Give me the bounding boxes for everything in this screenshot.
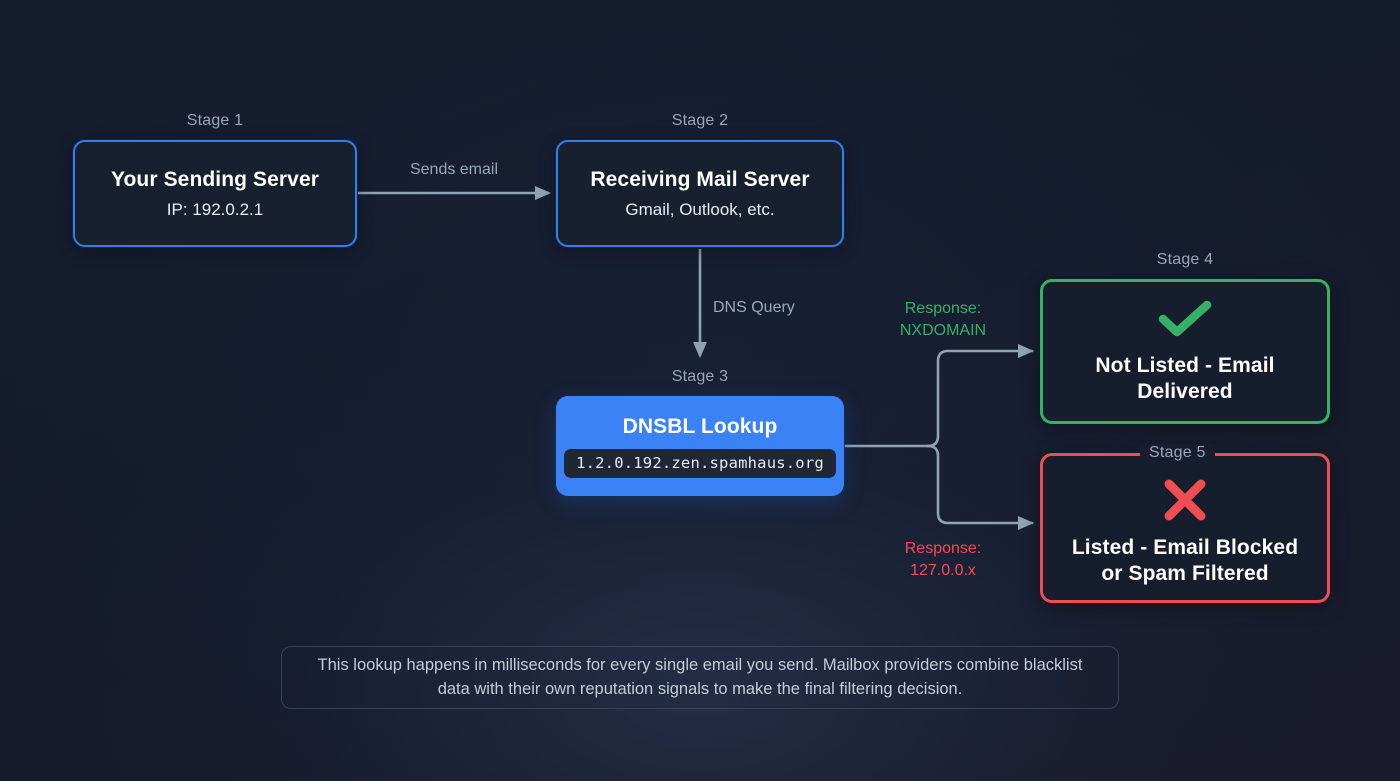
not-listed-title-line1: Not Listed - Email <box>1095 353 1274 379</box>
arrow-dnsbl-to-not-listed <box>928 351 1032 446</box>
response-bad-line2: 127.0.0.x <box>874 560 1012 582</box>
footer-note: This lookup happens in milliseconds for … <box>281 646 1119 709</box>
stage-4-caption: Stage 4 <box>1040 251 1330 269</box>
footer-note-text: This lookup happens in milliseconds for … <box>300 654 1100 701</box>
sending-server-title: Your Sending Server <box>111 167 319 193</box>
response-ok-line2: NXDOMAIN <box>874 320 1012 342</box>
sending-server-ip: IP: 192.0.2.1 <box>167 200 263 220</box>
edge-label-sends-email: Sends email <box>358 159 550 181</box>
node-receiving-mail-server[interactable]: Receiving Mail Server Gmail, Outlook, et… <box>556 140 844 247</box>
stage-2-caption: Stage 2 <box>556 112 844 130</box>
node-listed-blocked[interactable]: Listed - Email Blocked or Spam Filtered <box>1040 453 1330 603</box>
stage-3-caption: Stage 3 <box>556 368 844 386</box>
footer-note-line1: This lookup happens in milliseconds for … <box>318 656 1020 674</box>
listed-title-line2: or Spam Filtered <box>1101 561 1268 587</box>
stage-5-caption: Stage 5 <box>1140 444 1215 462</box>
not-listed-title-line2: Delivered <box>1137 379 1232 405</box>
dnsbl-lookup-title: DNSBL Lookup <box>623 414 778 440</box>
response-bad-line1: Response: <box>874 538 1012 560</box>
receiving-server-providers: Gmail, Outlook, etc. <box>625 200 774 220</box>
dnsbl-query-string: 1.2.0.192.zen.spamhaus.org <box>564 449 836 478</box>
listed-title-line1: Listed - Email Blocked <box>1072 535 1298 561</box>
response-ok-line1: Response: <box>874 298 1012 320</box>
cross-icon <box>1162 477 1208 523</box>
edge-label-response-127: Response: 127.0.0.x <box>874 538 1012 581</box>
stage-1-caption: Stage 1 <box>73 112 357 130</box>
receiving-server-title: Receiving Mail Server <box>590 167 809 193</box>
arrow-dnsbl-to-listed <box>928 446 1032 523</box>
diagram-canvas: Stage 1 Your Sending Server IP: 192.0.2.… <box>0 0 1400 781</box>
node-sending-server[interactable]: Your Sending Server IP: 192.0.2.1 <box>73 140 357 247</box>
check-icon <box>1157 299 1213 339</box>
edge-label-response-nxdomain: Response: NXDOMAIN <box>874 298 1012 341</box>
node-not-listed-delivered[interactable]: Not Listed - Email Delivered <box>1040 279 1330 424</box>
node-dnsbl-lookup[interactable]: DNSBL Lookup 1.2.0.192.zen.spamhaus.org <box>556 396 844 496</box>
edge-label-dns-query: DNS Query <box>713 297 795 319</box>
